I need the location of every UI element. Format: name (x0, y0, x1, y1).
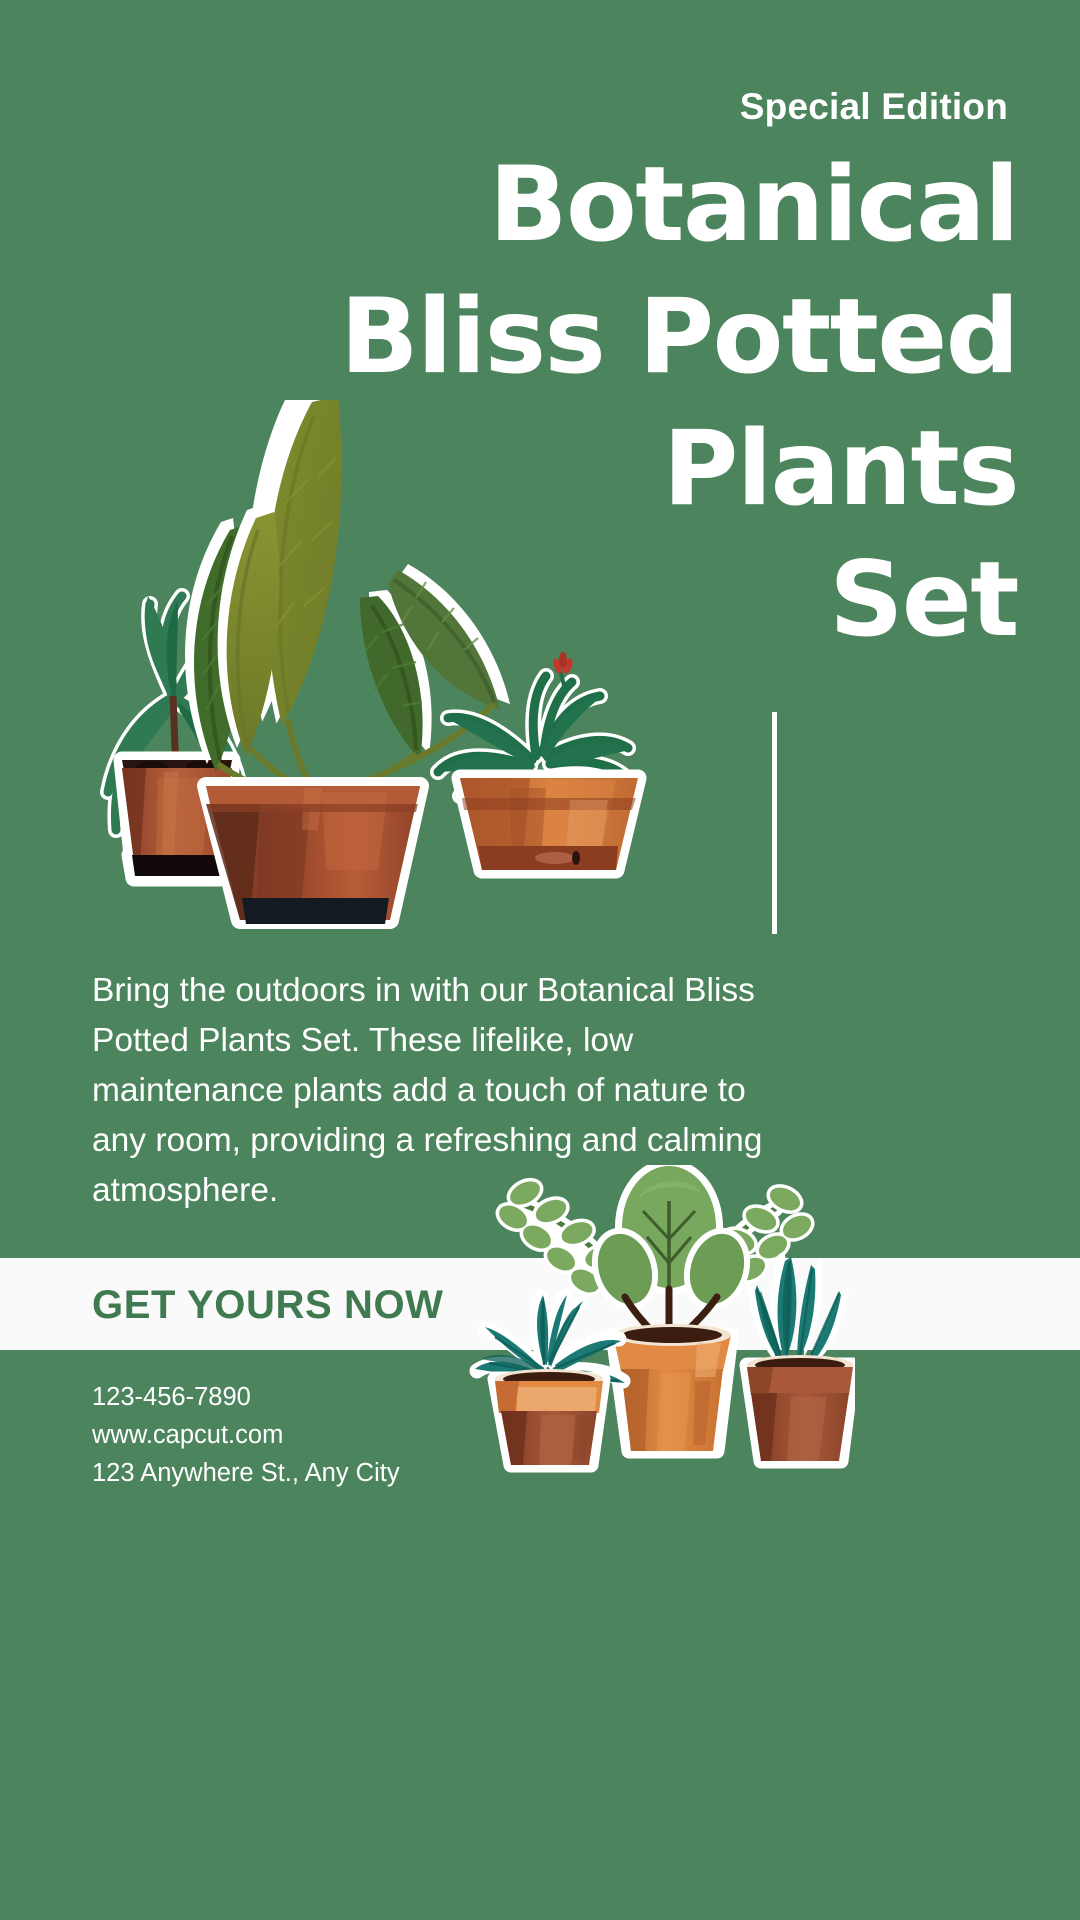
footer-phone[interactable]: 123-456-7890 (92, 1378, 400, 1416)
title-line-2: Bliss Potted (60, 272, 1018, 404)
eyebrow-label: Special Edition (740, 88, 1008, 125)
cta-button[interactable]: GET YOURS NOW (92, 1283, 444, 1328)
three-potted-plants-illustration-bottom (455, 1165, 855, 1505)
title-line-1: Botanical (60, 140, 1018, 272)
vertical-divider (772, 712, 777, 934)
footer-contact: 123-456-7890 www.capcut.com 123 Anywhere… (92, 1378, 400, 1492)
title-line-3: Plants (60, 404, 1018, 536)
agave-plant-brown-pot (747, 1251, 853, 1461)
footer-website[interactable]: www.capcut.com (92, 1416, 400, 1454)
teal-fan-plant (475, 1295, 625, 1465)
page-title: Botanical Bliss Potted Plants Set (60, 140, 1018, 667)
footer-address: 123 Anywhere St., Any City (92, 1454, 400, 1492)
title-line-4: Set (60, 535, 1018, 667)
poster-canvas: Special Edition Botanical Bliss Potted P… (0, 0, 1080, 1920)
